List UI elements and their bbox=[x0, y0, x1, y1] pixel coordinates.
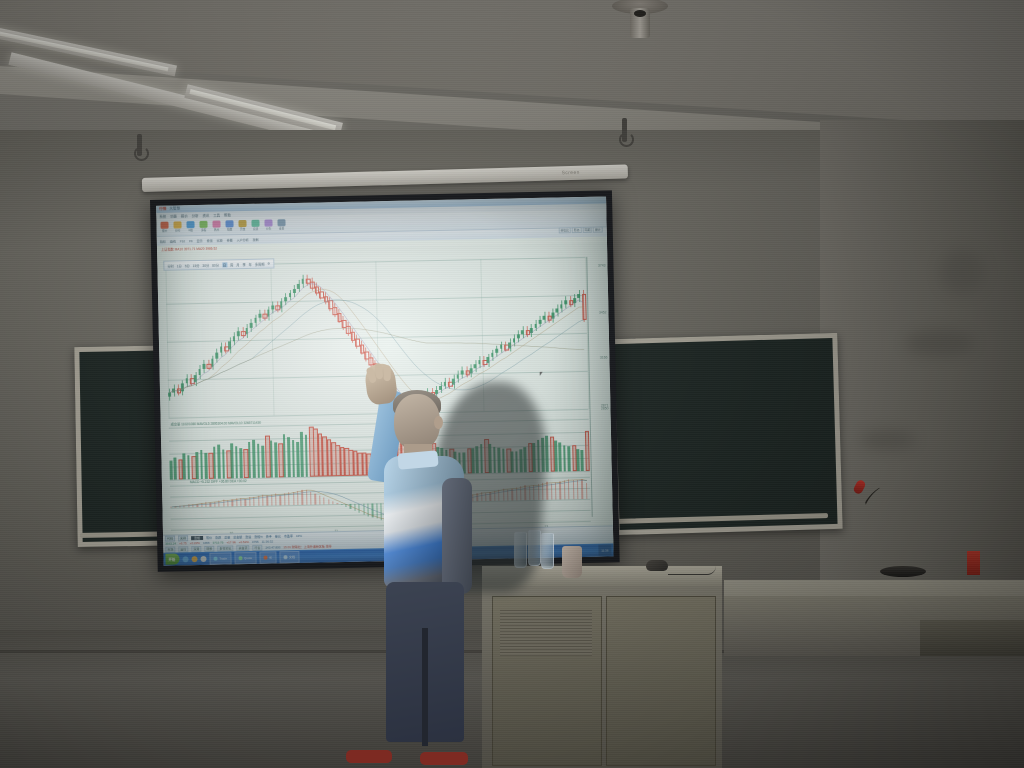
wall-stain-1 bbox=[905, 330, 975, 356]
right-button-3[interactable]: 统计 bbox=[593, 227, 603, 233]
tb2-item-0[interactable]: 指标 bbox=[160, 239, 166, 243]
volume-bar bbox=[187, 455, 190, 479]
roller-brand-label: Screen bbox=[562, 170, 580, 177]
far-desk bbox=[920, 620, 1024, 656]
volume-bar bbox=[563, 445, 566, 472]
taskbar-window-2[interactable]: IE bbox=[259, 551, 276, 563]
period-option-5[interactable]: 60分 bbox=[212, 262, 219, 267]
toolbar-button-9[interactable]: 设置 bbox=[276, 219, 286, 231]
index-volume: 1466 bbox=[203, 541, 210, 545]
volume-bar bbox=[567, 446, 570, 471]
classroom-scene: Screen 行情 大智慧 系统 功能 报价 分析 资讯 工具 帮助 bbox=[0, 0, 1024, 768]
index-icon bbox=[225, 220, 233, 227]
settings-gear-icon[interactable]: ⚙ bbox=[267, 261, 270, 265]
ie-icon bbox=[263, 555, 267, 559]
toolbar-label-7: 自选 bbox=[253, 227, 258, 231]
chart-right-buttons[interactable]: 单位比 形态 同期 统计 bbox=[558, 227, 602, 234]
right-button-1[interactable]: 形态 bbox=[572, 227, 582, 233]
index-change-pct: +0.22% bbox=[190, 541, 200, 545]
volume-bar bbox=[292, 440, 295, 477]
column-12[interactable]: CPU bbox=[296, 534, 302, 538]
start-button-label: 开始 bbox=[168, 557, 175, 562]
tb2-item-1[interactable]: 画线 bbox=[170, 239, 176, 243]
column-0[interactable]: 代码 bbox=[165, 535, 175, 541]
lecturer-shoe-right bbox=[420, 752, 468, 765]
computer-mouse bbox=[646, 560, 668, 571]
column-3[interactable]: 现价 bbox=[206, 536, 212, 540]
period-option-4[interactable]: 30分 bbox=[202, 262, 209, 267]
volume-bar bbox=[296, 442, 299, 477]
right-wall bbox=[820, 120, 1024, 660]
finger-2 bbox=[374, 363, 383, 380]
volume-bar bbox=[222, 450, 225, 479]
small-red-box bbox=[967, 551, 980, 575]
toolbar-label-1: 分时 bbox=[175, 229, 180, 233]
open-icon bbox=[238, 220, 246, 227]
price-tick-0: 3743 bbox=[598, 264, 606, 268]
document-icon bbox=[283, 555, 287, 559]
column-7[interactable]: 涨速 bbox=[245, 535, 251, 539]
toolbar-button-1[interactable]: 分时 bbox=[172, 221, 182, 233]
toolbar-button-2[interactable]: K线 bbox=[185, 221, 195, 233]
ticker-time: 11:36:32 bbox=[262, 540, 274, 544]
blackboard-right bbox=[609, 333, 842, 535]
tb2-item-7[interactable]: 叠图 bbox=[227, 238, 233, 242]
volume-bar bbox=[182, 454, 185, 480]
column-8[interactable]: 涨幅% bbox=[254, 535, 263, 539]
volume-bar bbox=[204, 452, 207, 479]
toolbar-label-8: 公告 bbox=[266, 227, 271, 231]
toolbar-label-0: 报价 bbox=[162, 229, 167, 233]
toolbar-label-3: 多股 bbox=[201, 228, 206, 232]
tb2-item-4[interactable]: 显示 bbox=[197, 238, 203, 242]
quote-app-icon bbox=[238, 556, 242, 560]
screen-hook-left bbox=[137, 134, 142, 156]
toolbar-button-0[interactable]: 报价 bbox=[159, 221, 169, 233]
period-option-1[interactable]: 1分 bbox=[177, 263, 182, 268]
announcement-icon bbox=[264, 219, 272, 226]
toolbar-label-2: K线 bbox=[188, 228, 192, 232]
taskbar-clock: 11:36 bbox=[601, 548, 608, 552]
watchlist-icon bbox=[251, 219, 259, 226]
app-title-red: 行情 bbox=[159, 207, 166, 212]
toolbar-label-4: 热点 bbox=[214, 228, 219, 232]
quicklaunch-icon-3[interactable] bbox=[200, 555, 206, 561]
menu-item-1[interactable]: 功能 bbox=[170, 213, 177, 218]
toolbar-label-9: 设置 bbox=[279, 226, 284, 230]
taskbar-window-1[interactable]: Quote bbox=[234, 551, 256, 563]
index-value: 3563.24 bbox=[165, 542, 176, 546]
wall-stain-3 bbox=[940, 250, 984, 294]
app-title: 大智慧 bbox=[169, 206, 180, 211]
lecturer-shoe-left bbox=[346, 750, 392, 763]
water-glass-3 bbox=[541, 533, 554, 569]
period-extra-2[interactable]: 季 bbox=[242, 262, 245, 267]
tb2-item-8[interactable]: 入户分析 bbox=[237, 237, 249, 241]
price-tick-1: 3452 bbox=[599, 310, 607, 314]
menu-item-0[interactable]: 系统 bbox=[159, 213, 166, 218]
quote-icon bbox=[160, 221, 168, 228]
volume-bar bbox=[585, 431, 591, 471]
desk-cable bbox=[668, 566, 716, 575]
toolbar-button-3[interactable]: 多股 bbox=[198, 220, 208, 232]
volume-bar bbox=[230, 443, 233, 478]
ceiling-fan-mount bbox=[612, 0, 668, 38]
lecturer bbox=[338, 378, 498, 768]
toolbar-button-4[interactable]: 热点 bbox=[211, 220, 221, 232]
microphone-base[interactable] bbox=[880, 566, 926, 577]
paper-cup bbox=[562, 546, 582, 578]
second-pct: +0.52% bbox=[239, 540, 249, 544]
period-selected-day[interactable]: 日 bbox=[222, 262, 227, 267]
lectern-door-right bbox=[606, 596, 716, 766]
menu-item-4[interactable]: 资讯 bbox=[202, 212, 209, 217]
mouse-cursor bbox=[540, 372, 544, 378]
volume-bar bbox=[559, 443, 562, 472]
menu-item-2[interactable]: 报价 bbox=[181, 213, 188, 218]
taskbar-window-1-label: Quote bbox=[244, 555, 252, 559]
column-9[interactable]: 换手 bbox=[266, 534, 272, 538]
volume-bar bbox=[305, 435, 309, 477]
volume-bar bbox=[257, 444, 260, 478]
finger-3 bbox=[384, 365, 391, 381]
column-6[interactable]: 总金额 bbox=[233, 535, 242, 539]
column-4[interactable]: 涨跌 bbox=[215, 535, 221, 539]
kline-icon bbox=[186, 221, 194, 228]
toolbar-button-5[interactable]: 指数 bbox=[224, 220, 234, 232]
volume-bar bbox=[576, 449, 579, 471]
volume-bar bbox=[283, 435, 287, 478]
quicklaunch-icon-2[interactable] bbox=[191, 556, 197, 562]
volume-bar bbox=[248, 442, 251, 478]
toolbar-label-6: 开放 bbox=[240, 227, 245, 231]
menu-item-3[interactable]: 分析 bbox=[192, 212, 199, 217]
period-extra-1[interactable]: 月 bbox=[236, 262, 239, 267]
volume-bar bbox=[169, 460, 172, 479]
toolbar-button-8[interactable]: 公告 bbox=[263, 219, 273, 231]
price-tick-2: 3166 bbox=[600, 356, 608, 360]
status-field-7: 243:47:800 bbox=[265, 545, 280, 549]
menu-item-6[interactable]: 帮助 bbox=[224, 212, 231, 217]
lecturer-lowered-arm bbox=[442, 478, 472, 594]
quicklaunch-icon-1[interactable] bbox=[182, 556, 188, 562]
tb2-item-6[interactable]: 比较 bbox=[217, 238, 223, 242]
volume-bar bbox=[174, 457, 177, 479]
volume-bar bbox=[217, 445, 220, 479]
taskbar-window-3[interactable]: 文档 bbox=[279, 550, 299, 562]
taskbar-window-0-label: Trade bbox=[219, 556, 227, 560]
gear-icon bbox=[277, 219, 285, 226]
start-button[interactable]: 开始 bbox=[165, 553, 179, 564]
volume-bar bbox=[235, 446, 238, 478]
period-option-0[interactable]: 分时 bbox=[167, 263, 173, 268]
system-tray[interactable]: 11:36 bbox=[598, 544, 612, 555]
lecturer-leg-gap bbox=[422, 628, 428, 746]
period-option-2[interactable]: 5分 bbox=[185, 263, 190, 268]
lectern-vent bbox=[500, 610, 592, 656]
volume-bar bbox=[200, 450, 203, 479]
wall-stain-2 bbox=[860, 430, 916, 450]
taskbar-window-0[interactable]: Trade bbox=[209, 552, 231, 564]
period-extra-4[interactable]: 多周期 bbox=[255, 261, 265, 266]
volume-bar bbox=[274, 443, 277, 478]
taskbar-window-2-label: IE bbox=[269, 555, 272, 559]
volume-bar bbox=[270, 441, 273, 478]
tb2-item-2[interactable]: F10 bbox=[180, 239, 185, 243]
timeline-icon bbox=[173, 221, 181, 228]
period-extra-3[interactable]: 年 bbox=[249, 261, 252, 266]
toolbar-label-5: 指数 bbox=[227, 228, 232, 232]
column-10[interactable]: 量比 bbox=[275, 534, 281, 538]
column-2[interactable]: 涨幅 bbox=[191, 536, 203, 540]
tb2-item-3[interactable]: F9 bbox=[189, 239, 193, 243]
menu-item-5[interactable]: 工具 bbox=[213, 212, 220, 217]
tb2-item-9[interactable]: 改制 bbox=[253, 237, 259, 241]
lecturer-ear bbox=[434, 416, 443, 429]
right-button-0[interactable]: 单位比 bbox=[558, 227, 571, 233]
ticker-code: 3755 bbox=[252, 540, 259, 544]
second-index: 3713.75 bbox=[213, 541, 224, 545]
second-change: +17.96 bbox=[226, 541, 235, 545]
right-button-2[interactable]: 同期 bbox=[582, 227, 592, 233]
column-1[interactable]: 名称 bbox=[178, 535, 188, 541]
period-option-3[interactable]: 15分 bbox=[193, 262, 200, 267]
toolbar-button-6[interactable]: 开放 bbox=[237, 219, 247, 231]
index-change: +6.75 bbox=[179, 542, 187, 546]
volume-bar bbox=[252, 440, 256, 478]
multistock-icon bbox=[199, 221, 207, 228]
volume-bar bbox=[287, 437, 291, 477]
period-extra-0[interactable]: 周 bbox=[230, 262, 233, 267]
tb2-item-5[interactable]: 叠加 bbox=[207, 238, 213, 242]
column-11[interactable]: 市盈率 bbox=[284, 534, 293, 538]
trade-app-icon bbox=[213, 556, 217, 560]
column-5[interactable]: 总量 bbox=[224, 535, 230, 539]
hotspot-icon bbox=[212, 220, 220, 227]
price-tick-4: 2850 bbox=[601, 406, 609, 410]
fan-hole bbox=[634, 10, 646, 17]
toolbar-button-7[interactable]: 自选 bbox=[250, 219, 260, 231]
taskbar-window-3-label: 文档 bbox=[289, 555, 295, 559]
volume-bar bbox=[581, 450, 584, 471]
screen-hook-right bbox=[622, 118, 627, 142]
volume-bar bbox=[196, 452, 199, 479]
